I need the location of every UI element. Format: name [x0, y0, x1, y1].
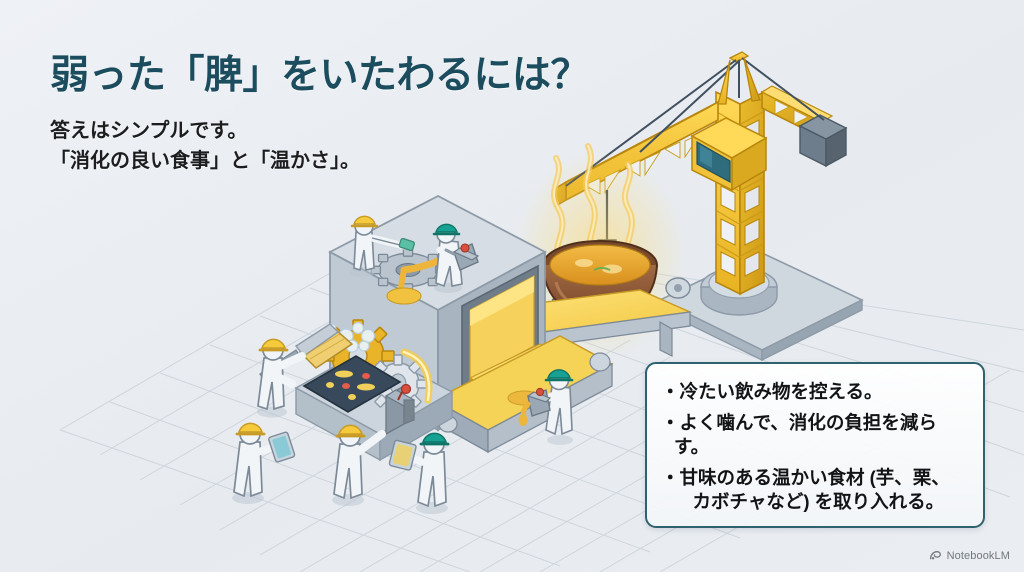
advice-card: ・冷たい飲み物を控える。 ・よく噛んで、消化の負担を減らす。 ・甘味のある温かい… [645, 362, 985, 528]
notebooklm-watermark: NotebookLM [929, 549, 1010, 562]
list-item: ・甘味のある温かい食材 (芋、栗、 カボチャなど) を取り入れる。 [661, 466, 969, 515]
page-title: 弱った「脾」をいたわるには？ [50, 44, 589, 100]
slide-canvas: 弱った「脾」をいたわるには？ 答えはシンプルです。 「消化の良い食事」と「温かさ… [0, 0, 1024, 572]
notebooklm-icon [929, 549, 942, 562]
subtitle-line-1: 答えはシンプルです。 [50, 116, 360, 146]
oil-spill [387, 288, 421, 304]
watermark-label: NotebookLM [947, 550, 1010, 562]
list-item: ・冷たい飲み物を控える。 [661, 380, 969, 405]
advice-list: ・冷たい飲み物を控える。 ・よく噛んで、消化の負担を減らす。 ・甘味のある温かい… [661, 380, 969, 515]
list-item: ・よく噛んで、消化の負担を減らす。 [661, 411, 969, 460]
subtitle-line-2: 「消化の良い食事」と「温かさ」。 [50, 146, 360, 176]
subtitle-block: 答えはシンプルです。 「消化の良い食事」と「温かさ」。 [50, 116, 360, 176]
